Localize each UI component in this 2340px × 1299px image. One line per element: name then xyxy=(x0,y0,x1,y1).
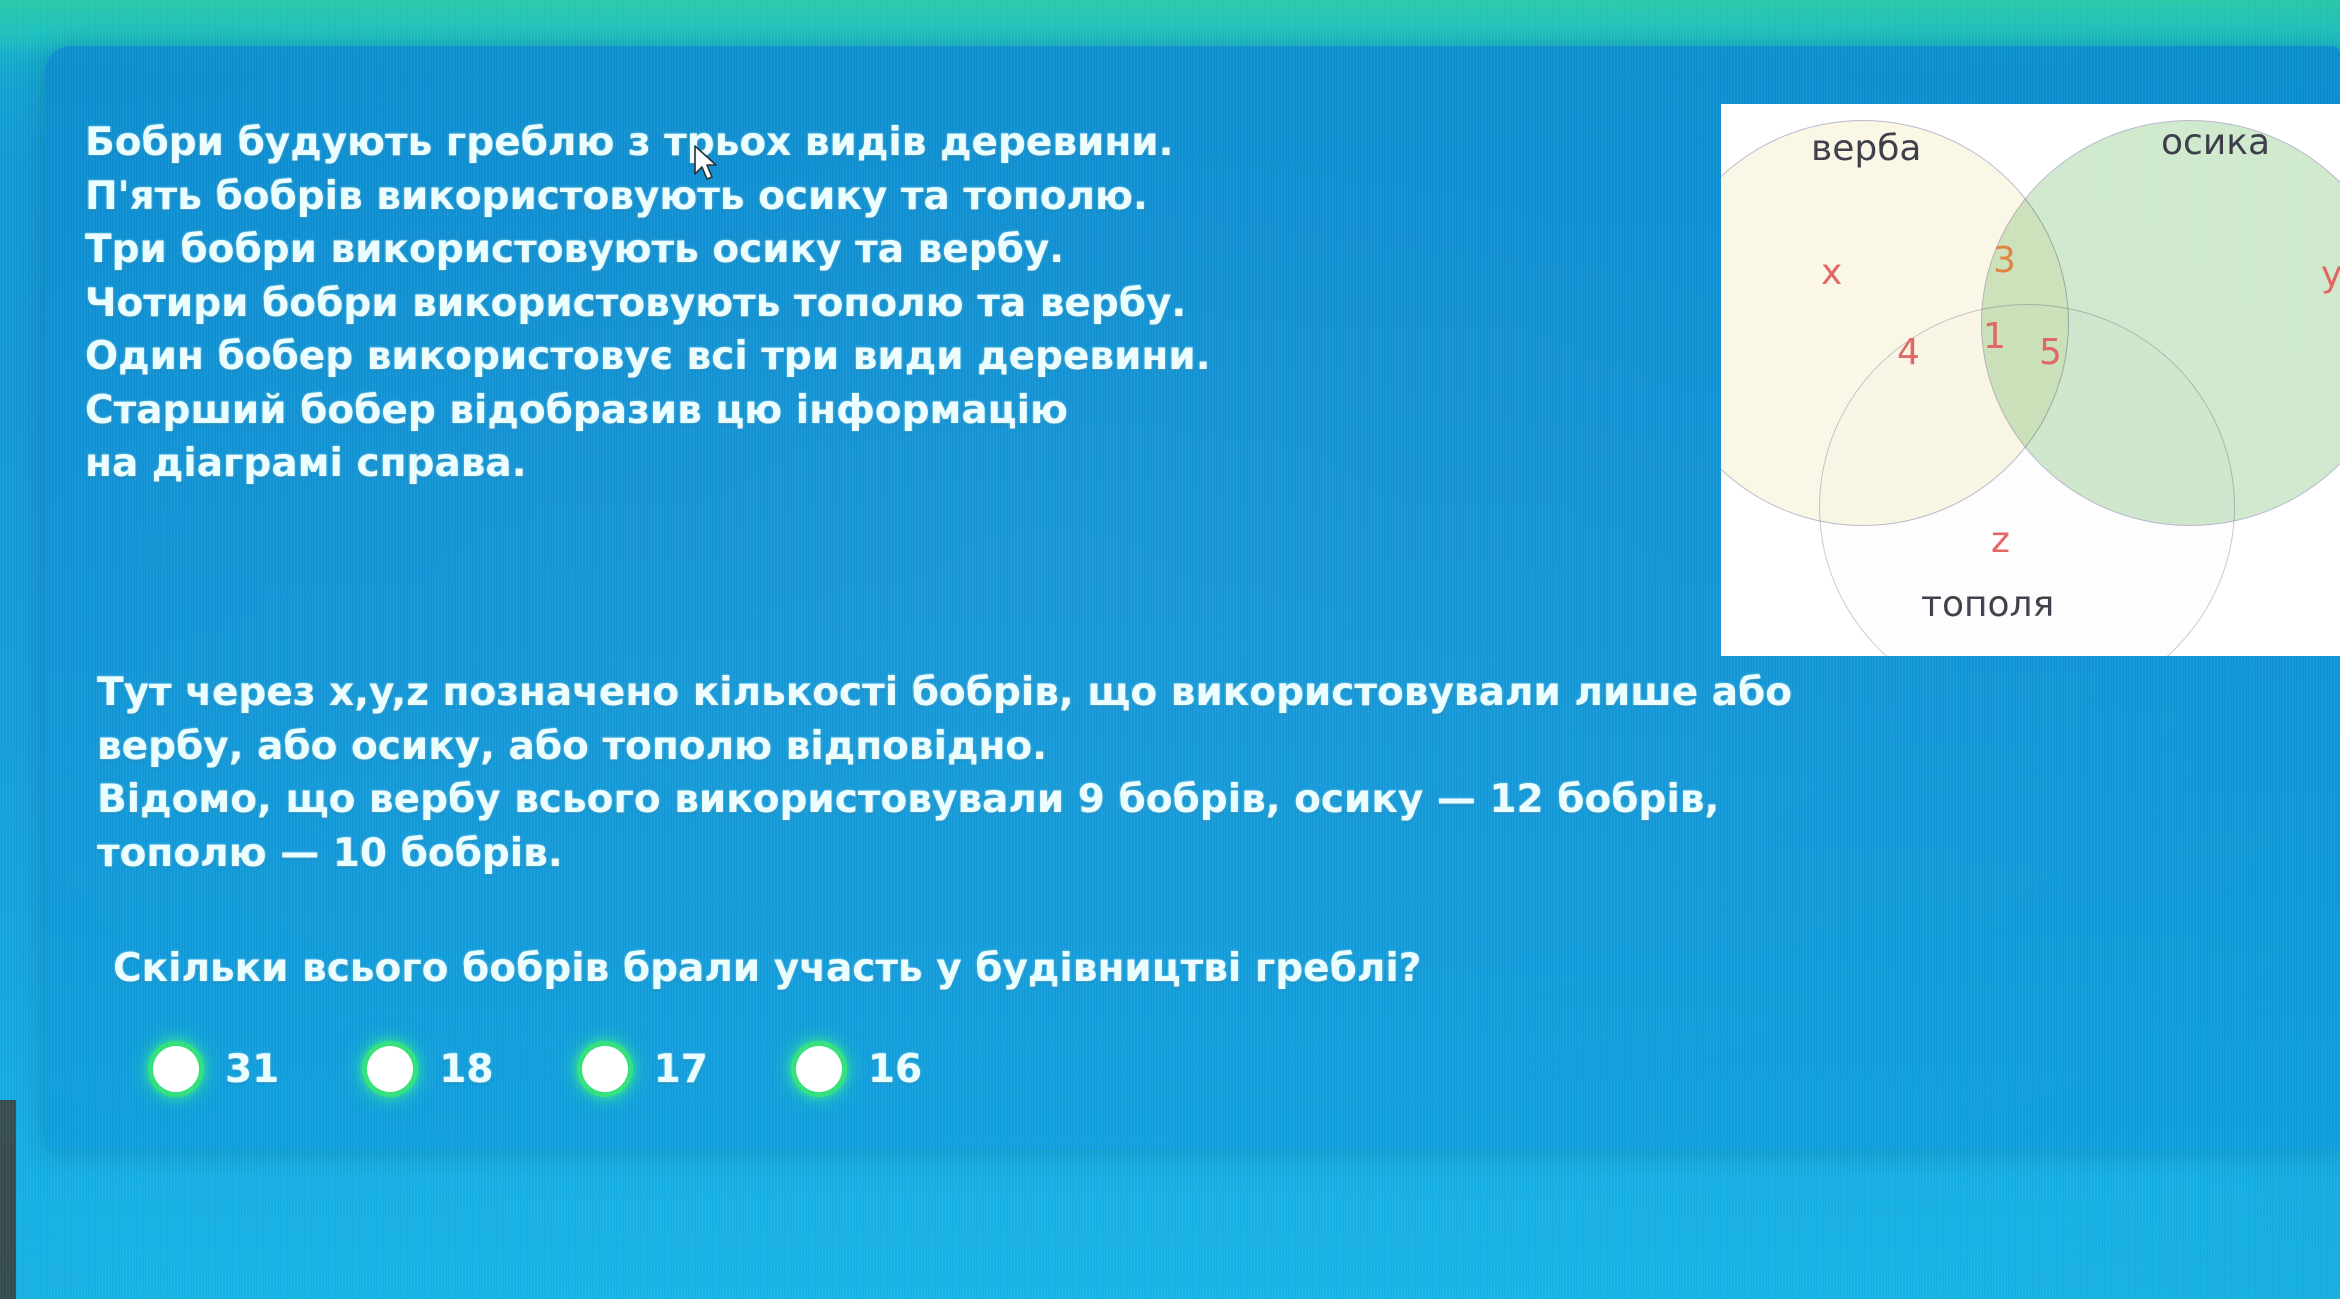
notes-line-4: тополю — 10 бобрів. xyxy=(97,827,1792,881)
answer-options: 31 18 17 16 xyxy=(153,1046,922,1092)
radio-button-icon[interactable] xyxy=(796,1046,842,1092)
notes-line-3: Відомо, що вербу всього використовували … xyxy=(97,773,1792,827)
option-4-label: 16 xyxy=(868,1047,922,1092)
option-1-label: 31 xyxy=(225,1047,279,1092)
venn-set-label-verba: верба xyxy=(1811,128,1921,169)
venn-set-label-topolya: тополя xyxy=(1921,584,2054,625)
statement-line-6: Старший бобер відобразив цю інформацію xyxy=(85,384,1211,438)
screen-bezel xyxy=(0,1100,16,1299)
radio-button-icon[interactable] xyxy=(582,1046,628,1092)
radio-button-icon[interactable] xyxy=(367,1046,413,1092)
venn-region-verba-topolya: 4 xyxy=(1897,332,1920,373)
statement-line-4: Чотири бобри використовують тополю та ве… xyxy=(85,277,1211,331)
notes-line-1: Тут через x,y,z позначено кількості бобр… xyxy=(97,666,1792,720)
option-2[interactable]: 18 xyxy=(367,1046,493,1092)
venn-set-label-osyka: осика xyxy=(2161,122,2270,163)
venn-region-verba-osyka: 3 xyxy=(1993,240,2016,281)
option-1[interactable]: 31 xyxy=(153,1046,279,1092)
notes-line-2: вербу, або осику, або тополю відповідно. xyxy=(97,720,1792,774)
venn-region-verba-only: x xyxy=(1821,252,1842,293)
problem-notes: Тут через x,y,z позначено кількості бобр… xyxy=(97,666,1792,880)
mouse-cursor-icon xyxy=(693,144,719,182)
statement-line-7: на діаграмі справа. xyxy=(85,437,1211,491)
venn-diagram: верба осика тополя x y z 3 1 4 5 xyxy=(1721,104,2340,656)
option-3-label: 17 xyxy=(654,1047,708,1092)
venn-label-layer: верба осика тополя x y z 3 1 4 5 xyxy=(1721,104,2340,656)
statement-line-1: Бобри будують греблю з трьох видів дерев… xyxy=(85,116,1211,170)
venn-region-osyka-topolya: 5 xyxy=(2039,332,2062,373)
option-2-label: 18 xyxy=(439,1047,493,1092)
statement-line-5: Один бобер використовує всі три види дер… xyxy=(85,330,1211,384)
statement-line-2: П'ять бобрів використовують осику та топ… xyxy=(85,170,1211,224)
question-card: Бобри будують греблю з трьох видів дерев… xyxy=(45,46,2340,1150)
option-4[interactable]: 16 xyxy=(796,1046,922,1092)
question-text: Скільки всього бобрів брали участь у буд… xyxy=(113,946,1421,991)
option-3[interactable]: 17 xyxy=(582,1046,708,1092)
venn-region-osyka-only: y xyxy=(2321,254,2340,295)
screen-photo: Бобри будують греблю з трьох видів дерев… xyxy=(0,0,2340,1299)
radio-button-icon[interactable] xyxy=(153,1046,199,1092)
venn-diagram-panel: верба осика тополя x y z 3 1 4 5 xyxy=(1721,104,2340,656)
statement-line-3: Три бобри використовують осику та вербу. xyxy=(85,223,1211,277)
problem-statement: Бобри будують греблю з трьох видів дерев… xyxy=(85,116,1211,491)
venn-region-topolya-only: z xyxy=(1991,520,2010,561)
venn-region-all-three: 1 xyxy=(1983,316,2006,357)
